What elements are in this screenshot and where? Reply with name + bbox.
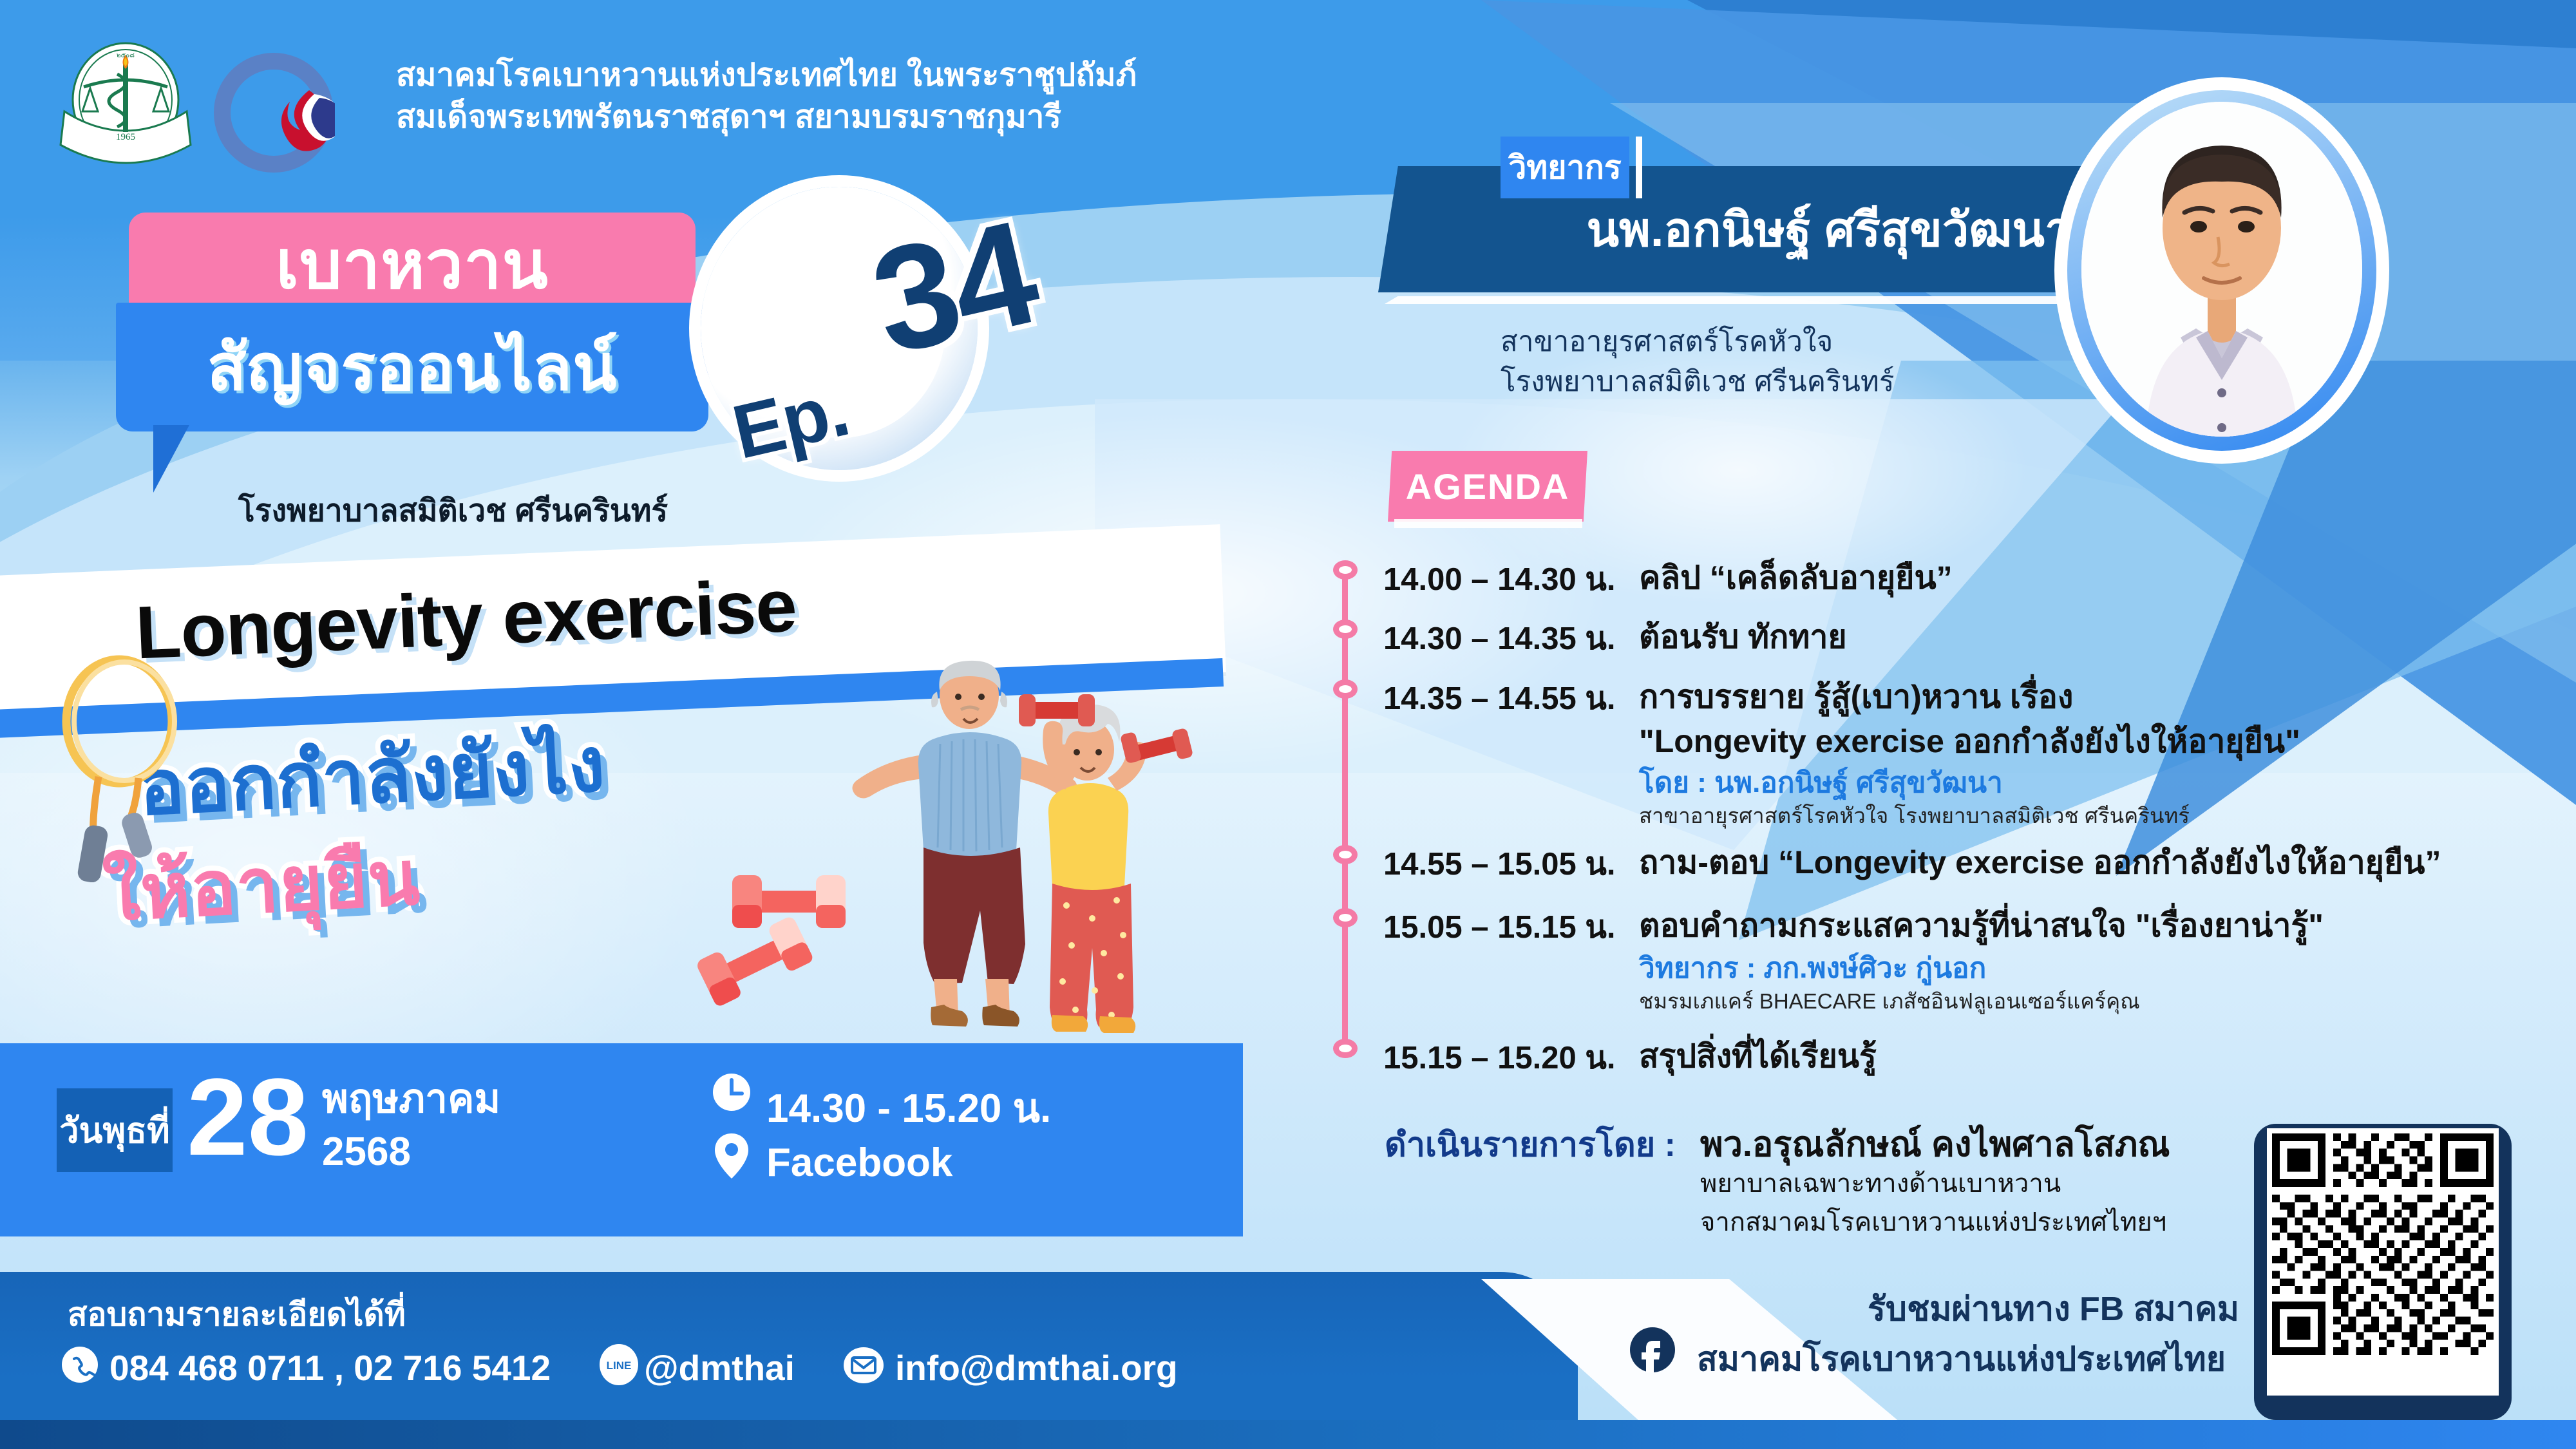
speaker-avatar — [2081, 102, 2362, 437]
agenda-timeline-dot — [1333, 845, 1358, 864]
agenda-title-5: สรุปสิ่งที่ได้เรียนรู้ — [1639, 1031, 1877, 1082]
speaker-tag-label: วิทยากร — [1501, 137, 1629, 198]
line-app-icon: LINE — [599, 1343, 639, 1386]
agenda-timeline-dot — [1333, 620, 1358, 639]
event-time: 14.30 - 15.20 น. — [766, 1077, 1051, 1140]
mail-icon — [844, 1347, 884, 1383]
svg-text:LINE: LINE — [607, 1359, 632, 1372]
title-line-1: เบาหวาน — [129, 213, 696, 316]
contact-phone[interactable]: 084 468 0711 , 02 716 5412 — [109, 1347, 551, 1388]
elderly-couple-exercising-illustration — [837, 657, 1198, 1050]
phone-icon — [61, 1346, 99, 1383]
organization-name: สมาคมโรคเบาหวานแห่งประเทศไทย ในพระราชูปถ… — [396, 55, 1137, 138]
location-pin-icon — [715, 1133, 748, 1179]
org-line-1: สมาคมโรคเบาหวานแห่งประเทศไทย ในพระราชูปถ… — [396, 55, 1137, 97]
speaker-department: สาขาอายุรศาสตร์โรคหัวใจ โรงพยาบาลสมิติเว… — [1501, 322, 1895, 402]
agenda-badge-label: AGENDA — [1388, 451, 1587, 522]
contact-label: สอบถามรายละเอียดได้ที่ — [68, 1289, 406, 1340]
event-day-label: วันพุธที่ — [57, 1088, 173, 1172]
poster-root: 1965 ๒๕๐๘ สมาคมโรคเบาหวานแห่งประเทศไทย ใ… — [0, 0, 2576, 1449]
event-place: Facebook — [766, 1140, 952, 1186]
speaker-dept-line-1: สาขาอายุรศาสตร์โรคหัวใจ — [1501, 322, 1895, 362]
speaker-tag-divider — [1636, 137, 1642, 198]
agenda-time-0: 14.00 – 14.30 น. — [1383, 554, 1615, 604]
agenda-timeline-dot — [1333, 679, 1358, 699]
jump-rope-icon — [48, 650, 209, 882]
bottom-accent-strip — [0, 1420, 2576, 1449]
watch-line-1: รับชมผ่านทาง FB สมาคม — [1868, 1282, 2239, 1335]
agenda-time-1: 14.30 – 14.35 น. — [1383, 613, 1615, 663]
agenda-timeline-line — [1342, 570, 1348, 1056]
title-speech-tail — [153, 425, 189, 493]
svg-text:1965: 1965 — [116, 132, 135, 142]
clock-icon — [712, 1072, 752, 1112]
agenda-timeline-dot — [1333, 1039, 1358, 1058]
agenda-timeline-dot — [1333, 560, 1358, 580]
speaker-dept-line-2: โรงพยาบาลสมิติเวช ศรีนครินทร์ — [1501, 362, 1895, 402]
event-day-number: 28 — [187, 1063, 308, 1172]
agenda-title-3: ถาม-ตอบ “Longevity exercise ออกกำลังยังไ… — [1639, 837, 2441, 888]
agenda-time-4: 15.05 – 15.15 น. — [1383, 902, 1615, 952]
agenda-time-5: 15.15 – 15.20 น. — [1383, 1032, 1615, 1083]
agenda-note-2: สาขาอายุรศาสตร์โรคหัวใจ โรงพยาบาลสมิติเว… — [1639, 799, 2190, 833]
episode-number: 34 — [858, 187, 1049, 388]
qr-code[interactable] — [2272, 1133, 2494, 1355]
contact-line-id[interactable]: @dmthai — [644, 1347, 795, 1388]
agenda-note-4: ชมรมเภแคร์ BHAECARE เภสัชอินฟลูเอนเซอร์แ… — [1639, 984, 2140, 1018]
episode-prefix: Ep. — [725, 366, 857, 477]
thailand-diabetes-network-logo-icon — [213, 52, 335, 174]
event-month: พฤษภาคม — [322, 1074, 500, 1124]
diabetes-association-logo-icon: 1965 ๒๕๐๘ — [45, 35, 206, 180]
facebook-icon[interactable] — [1629, 1327, 1676, 1373]
moderator-line-1: พยาบาลเฉพาะทางด้านเบาหวาน — [1700, 1162, 2061, 1204]
agenda-time-3: 14.55 – 15.05 น. — [1383, 838, 1615, 889]
moderator-label: ดำเนินรายการโดย : — [1385, 1117, 1676, 1171]
agenda-title-1: ต้อนรับ ทักทาย — [1639, 612, 1847, 663]
agenda-title-4: ตอบคำถามกระแสความรู้ที่น่าสนใจ "เรื่องยา… — [1639, 900, 2324, 951]
svg-text:๒๕๐๘: ๒๕๐๘ — [117, 52, 135, 59]
hospital-subtitle: โรงพยาบาลสมิติเวช ศรีนครินทร์ — [238, 486, 668, 535]
contact-email[interactable]: info@dmthai.org — [895, 1347, 1178, 1388]
agenda-time-2: 14.35 – 14.55 น. — [1383, 673, 1615, 723]
watch-line-2: สมาคมโรคเบาหวานแห่งประเทศไทย — [1697, 1332, 2226, 1385]
title-line-2: สัญจรออนไลน์ — [116, 303, 708, 431]
agenda-title-0: คลิป “เคล็ดลับอายุยืน” — [1639, 553, 1953, 603]
moderator-line-2: จากสมาคมโรคเบาหวานแห่งประเทศไทยฯ — [1700, 1201, 2166, 1242]
org-line-2: สมเด็จพระเทพรัตนราชสุดาฯ สยามบรมราชกุมาร… — [396, 97, 1137, 138]
agenda-title-2: การบรรยาย รู้สู้(เบา)หวาน เรื่อง — [1639, 672, 2073, 723]
agenda-timeline-dot — [1333, 908, 1358, 927]
event-year: 2568 — [322, 1127, 411, 1177]
